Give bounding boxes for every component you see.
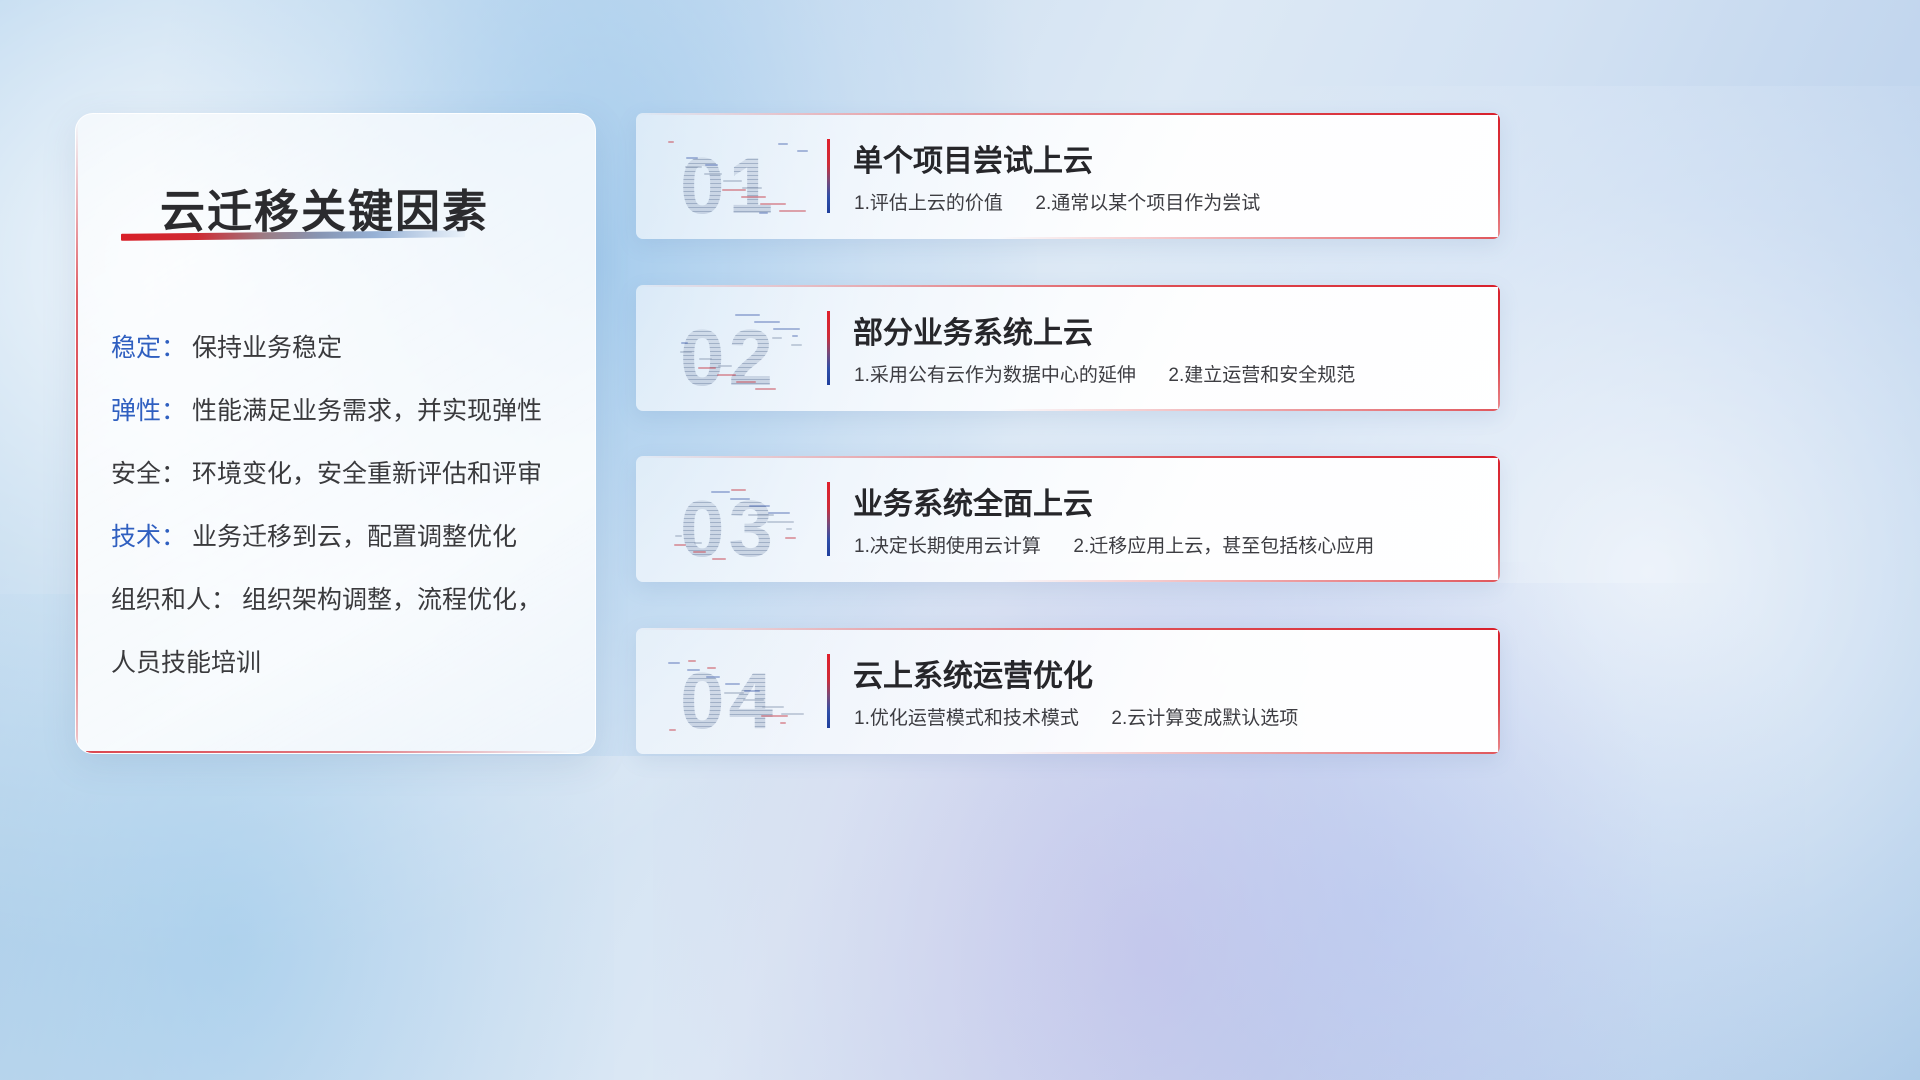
- stage-card-01[interactable]: 01 单个项目尝试上云 1.评估上云的价值 2.通常以某个项目作为尝试: [636, 113, 1500, 239]
- key-factors-panel: 云迁移关键因素 稳定： 保持业务稳定 弹性： 性能满足业务需求，并实现弹性 安全…: [75, 113, 596, 754]
- factor-value: 人员技能培训: [111, 643, 261, 679]
- stage-subtitle: 1.评估上云的价值 2.通常以某个项目作为尝试: [854, 188, 1260, 215]
- panel-bottom-accent-bar: [86, 751, 571, 753]
- number-fleck: [792, 335, 798, 337]
- card-right-accent: [1498, 285, 1500, 411]
- factor-item-organization: 组织和人： 组织架构调整，流程优化，: [111, 566, 579, 629]
- stage-title: 云上系统运营优化: [853, 651, 1093, 695]
- stage-point-1: 1.优化运营模式和技术模式: [854, 708, 1079, 729]
- stage-number: 03: [680, 482, 777, 576]
- stage-subtitle: 1.决定长期使用云计算 2.迁移应用上云，甚至包括核心应用: [854, 531, 1374, 558]
- stage-point-2: 2.迁移应用上云，甚至包括核心应用: [1073, 536, 1374, 557]
- factor-item-organization-cont: 人员技能培训: [111, 629, 579, 692]
- stage-number-graphic: 04: [658, 638, 828, 744]
- stage-number-graphic: 02: [658, 295, 828, 401]
- stage-card-03[interactable]: 03 业务系统全面上云 1.决定长期使用云计算 2.迁移应用上云，甚至包括核心应…: [636, 456, 1500, 582]
- stage-title: 单个项目尝试上云: [853, 136, 1093, 180]
- factor-label: 安全：: [111, 454, 186, 490]
- card-divider-bar: [827, 139, 830, 213]
- stage-point-2: 2.云计算变成默认选项: [1111, 708, 1298, 729]
- number-fleck: [773, 328, 800, 330]
- factor-item-technology: 技术： 业务迁移到云，配置调整优化: [111, 503, 579, 566]
- card-divider-bar: [827, 482, 830, 556]
- card-bottom-accent: [999, 409, 1500, 411]
- number-fleck: [791, 344, 802, 346]
- number-fleck: [797, 150, 808, 152]
- number-fleck: [786, 528, 792, 530]
- stage-subtitle: 1.采用公有云作为数据中心的延伸 2.建立运营和安全规范: [854, 360, 1355, 387]
- stage-point-1: 1.决定长期使用云计算: [854, 536, 1041, 557]
- card-divider-bar: [827, 654, 830, 728]
- number-fleck: [778, 143, 788, 145]
- factor-value: 环境变化，安全重新评估和评审: [186, 454, 542, 490]
- factor-value: 保持业务稳定: [186, 328, 342, 364]
- stage-subtitle: 1.优化运营模式和技术模式 2.云计算变成默认选项: [854, 703, 1298, 730]
- stage-title: 业务系统全面上云: [853, 479, 1093, 523]
- stage-title: 部分业务系统上云: [853, 308, 1093, 352]
- factor-value: 性能满足业务需求，并实现弹性: [186, 391, 542, 427]
- stage-point-2: 2.通常以某个项目作为尝试: [1035, 193, 1260, 214]
- card-right-accent: [1498, 456, 1500, 582]
- stage-number: 01: [680, 139, 777, 233]
- number-fleck: [668, 662, 680, 664]
- number-fleck: [668, 141, 674, 143]
- panel-left-accent-bar: [76, 122, 78, 745]
- stage-number-graphic: 03: [658, 466, 828, 572]
- card-top-accent: [636, 113, 1500, 115]
- factor-item-security: 安全： 环境变化，安全重新评估和评审: [111, 440, 579, 503]
- stage-point-1: 1.采用公有云作为数据中心的延伸: [854, 365, 1136, 386]
- number-fleck: [780, 722, 786, 724]
- factor-list: 稳定： 保持业务稳定 弹性： 性能满足业务需求，并实现弹性 安全： 环境变化，安…: [111, 314, 579, 692]
- stage-number: 02: [680, 311, 777, 405]
- card-divider-bar: [827, 311, 830, 385]
- factor-item-elasticity: 弹性： 性能满足业务需求，并实现弹性: [111, 377, 579, 440]
- stage-card-04[interactable]: 04 云上系统运营优化 1.优化运营模式和技术模式 2.云计算变成默认选项: [636, 628, 1500, 754]
- card-bottom-accent: [999, 237, 1500, 239]
- factor-label: 组织和人：: [111, 580, 236, 616]
- number-fleck: [669, 729, 676, 731]
- card-right-accent: [1498, 628, 1500, 754]
- card-top-accent: [636, 628, 1500, 630]
- stage-point-2: 2.建立运营和安全规范: [1168, 365, 1355, 386]
- card-bottom-accent: [999, 752, 1500, 754]
- number-fleck: [779, 210, 806, 212]
- factor-value: 业务迁移到云，配置调整优化: [186, 517, 517, 553]
- stage-number: 04: [680, 654, 777, 748]
- factor-value: 组织架构调整，流程优化，: [236, 580, 542, 616]
- stage-card-02[interactable]: 02 部分业务系统上云 1.采用公有云作为数据中心的延伸 2.建立运营和安全规范: [636, 285, 1500, 411]
- card-bottom-accent: [999, 580, 1500, 582]
- factor-item-stability: 稳定： 保持业务稳定: [111, 314, 579, 377]
- card-top-accent: [636, 456, 1500, 458]
- factor-label: 技术：: [111, 517, 186, 553]
- factor-label: 稳定：: [111, 328, 186, 364]
- card-top-accent: [636, 285, 1500, 287]
- factor-label: 弹性：: [111, 391, 186, 427]
- number-fleck: [781, 713, 804, 715]
- stage-point-1: 1.评估上云的价值: [854, 193, 1003, 214]
- number-fleck: [785, 537, 796, 539]
- stage-number-graphic: 01: [658, 123, 828, 229]
- card-right-accent: [1498, 113, 1500, 239]
